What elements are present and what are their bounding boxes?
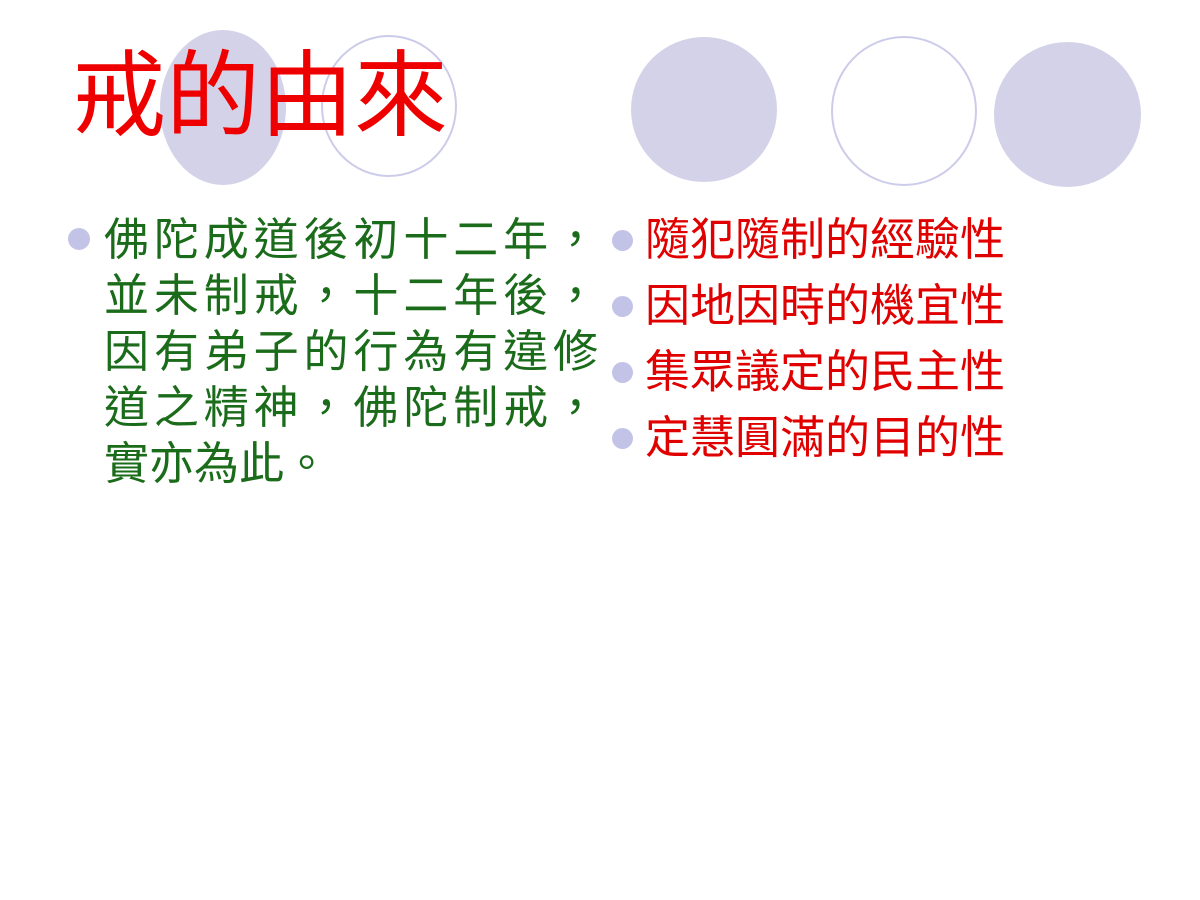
bullet-text: 定慧圓滿的目的性 — [645, 410, 1082, 465]
list-item: 佛陀成道後初十二年，並未制戒，十二年後，因有弟子的行為有違修道之精神，佛陀制戒，… — [68, 212, 598, 492]
circle-outline-2 — [831, 36, 977, 186]
list-item: 隨犯隨制的經驗性 — [612, 212, 1082, 267]
circle-filled-3 — [994, 42, 1141, 187]
slide-body: 佛陀成道後初十二年，並未制戒，十二年後，因有弟子的行為有違修道之精神，佛陀制戒，… — [0, 212, 1200, 772]
bullet-dot-icon — [612, 362, 633, 383]
bullet-text: 隨犯隨制的經驗性 — [645, 212, 1082, 267]
bullet-text: 因地因時的機宜性 — [645, 278, 1082, 333]
bullet-dot-icon — [68, 228, 90, 250]
content-column-right: 隨犯隨制的經驗性 因地因時的機宜性 集眾議定的民主性 定慧圓滿的目的性 — [612, 212, 1082, 476]
content-column-left: 佛陀成道後初十二年，並未制戒，十二年後，因有弟子的行為有違修道之精神，佛陀制戒，… — [68, 212, 598, 492]
bullet-text: 佛陀成道後初十二年，並未制戒，十二年後，因有弟子的行為有違修道之精神，佛陀制戒，… — [104, 212, 598, 492]
bullet-dot-icon — [612, 230, 633, 251]
list-item: 集眾議定的民主性 — [612, 344, 1082, 399]
bullet-dot-icon — [612, 428, 633, 449]
circle-filled-2 — [631, 37, 777, 182]
bullet-dot-icon — [612, 296, 633, 317]
slide-title: 戒的由來 — [72, 42, 448, 153]
slide-canvas: 戒的由來 佛陀成道後初十二年，並未制戒，十二年後，因有弟子的行為有違修道之精神，… — [0, 0, 1200, 900]
bullet-text: 集眾議定的民主性 — [645, 344, 1082, 399]
list-item: 定慧圓滿的目的性 — [612, 410, 1082, 465]
list-item: 因地因時的機宜性 — [612, 278, 1082, 333]
